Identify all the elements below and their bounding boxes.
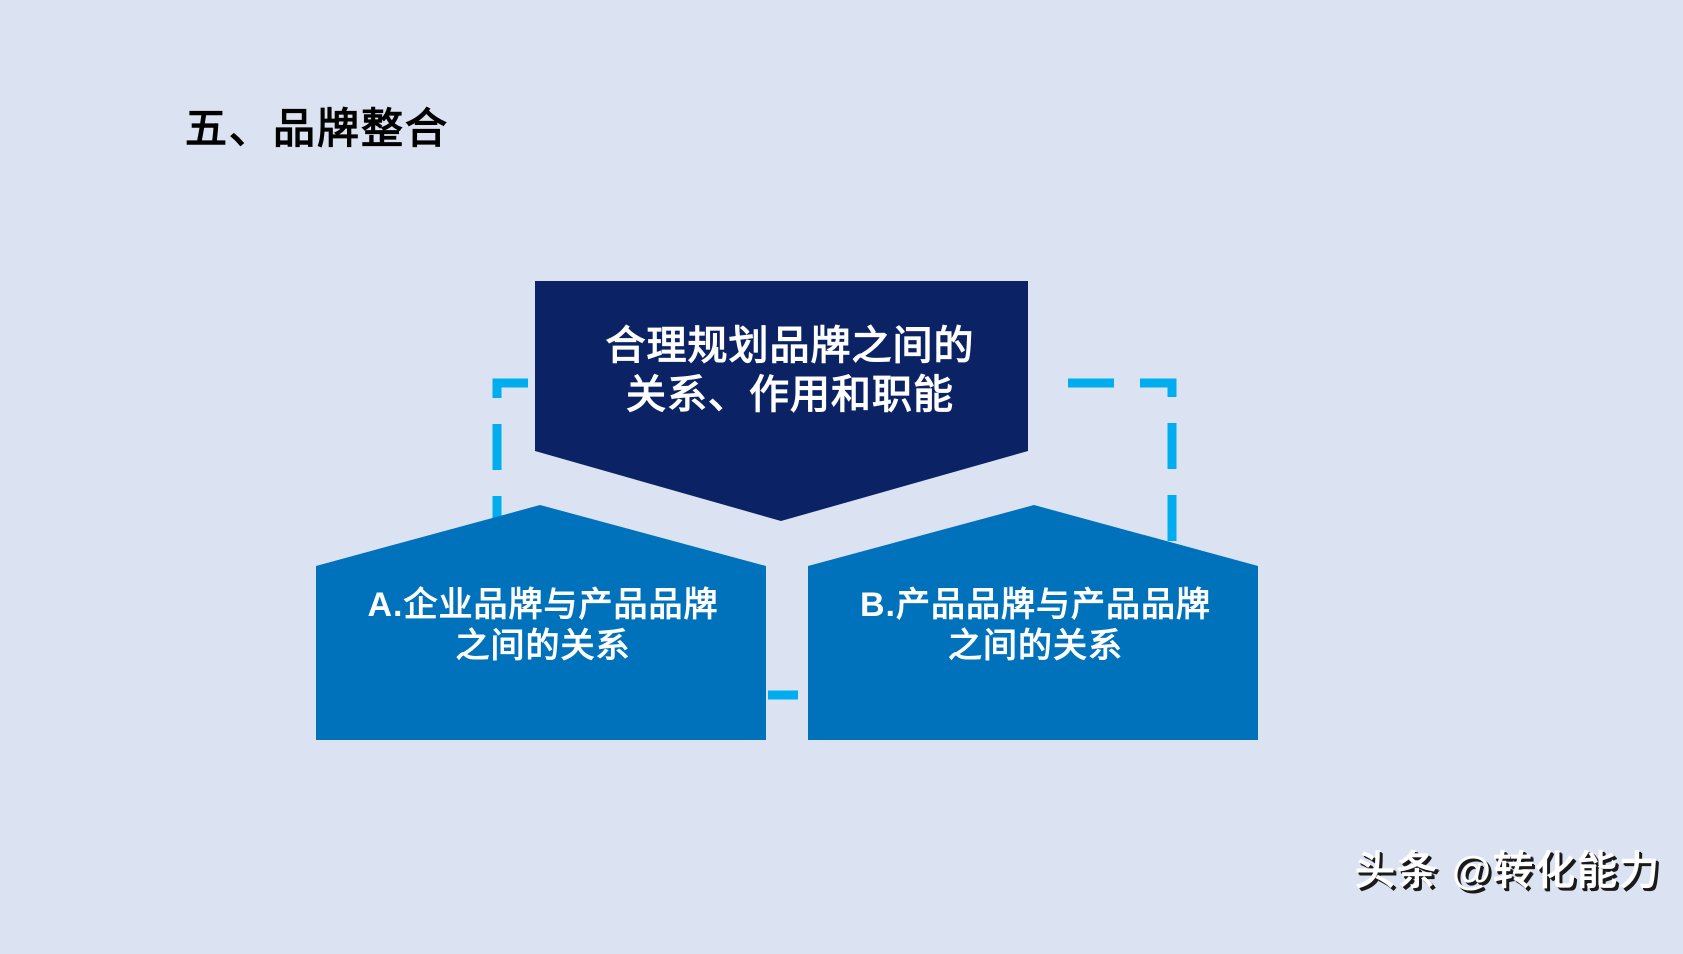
node-a[interactable]: [316, 505, 766, 740]
node-b[interactable]: [808, 505, 1258, 740]
watermark: 头条 @转化能力: [1355, 838, 1661, 896]
node-top[interactable]: [535, 281, 1028, 521]
brand-integration-diagram: [0, 0, 1683, 954]
slide-canvas: 五、品牌整合 合理规划品牌之间的 关系、作用和职能 A.企业品牌与产品品牌 之间…: [0, 0, 1683, 954]
